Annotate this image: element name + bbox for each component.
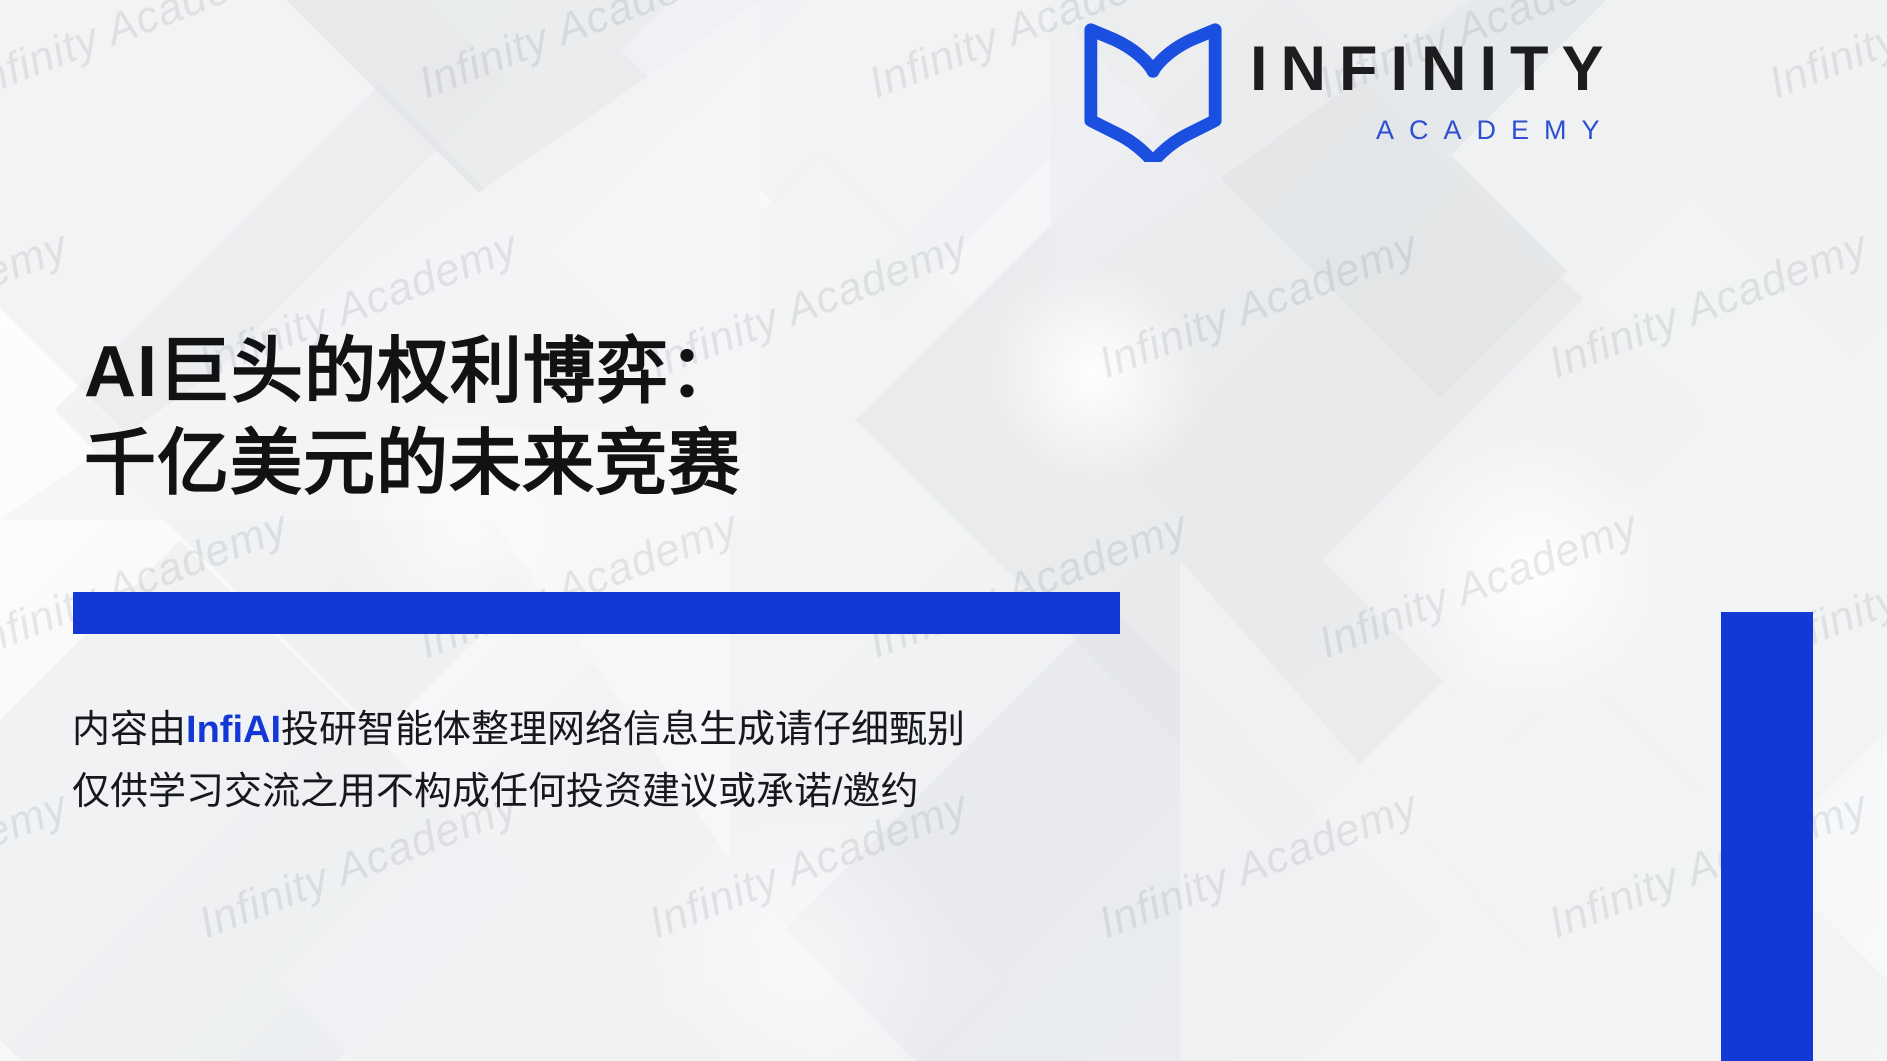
watermark: Infinity Academy <box>0 0 295 109</box>
disclaimer-line-2: 仅供学习交流之用不构成任何投资建议或承诺/邀约 <box>72 762 965 824</box>
brand-wordmark: INFINITY ACADEMY <box>1250 32 1617 144</box>
watermark: Infinity Academy <box>1092 221 1425 389</box>
page-title: AI巨头的权利博弈： 千亿美元的未来竞赛 <box>84 326 742 510</box>
watermark: Infinity Academy <box>862 501 1195 669</box>
watermark: Infinity Academy <box>0 221 75 389</box>
watermark: Infinity Academy <box>1542 781 1875 949</box>
title-line-2: 千亿美元的未来竞赛 <box>84 418 742 510</box>
watermark: Infinity Academy <box>0 781 75 949</box>
brand-name: INFINITY <box>1250 38 1617 101</box>
disclaimer-line-1: 内容由InfiAI投研智能体整理网络信息生成请仔细甄别 <box>72 700 965 762</box>
disclaimer-prefix: 内容由 <box>72 709 186 751</box>
open-book-icon <box>1078 14 1228 162</box>
title-slide: Infinity Academy Infinity Academy Infini… <box>0 0 1887 1061</box>
watermark: Infinity Academy <box>412 0 745 109</box>
disclaimer-suffix: 投研智能体整理网络信息生成请仔细甄别 <box>281 709 965 751</box>
brand-logo: INFINITY ACADEMY <box>1078 14 1617 162</box>
brand-tagline: ACADEMY <box>1250 117 1617 144</box>
watermark: Infinity Academy <box>0 501 295 669</box>
infiai-accent: InfiAI <box>186 709 281 751</box>
watermark: Infinity Academy <box>1312 501 1645 669</box>
watermark: Infinity Academy <box>1542 221 1875 389</box>
watermark: Infinity Academy <box>412 501 745 669</box>
watermark: Infinity Academy <box>1092 781 1425 949</box>
accent-block <box>1721 612 1813 1061</box>
title-divider <box>73 592 1120 634</box>
disclaimer-text: 内容由InfiAI投研智能体整理网络信息生成请仔细甄别 仅供学习交流之用不构成任… <box>72 700 965 823</box>
watermark: Infinity Academy <box>1762 0 1887 109</box>
title-line-1: AI巨头的权利博弈： <box>84 326 742 418</box>
